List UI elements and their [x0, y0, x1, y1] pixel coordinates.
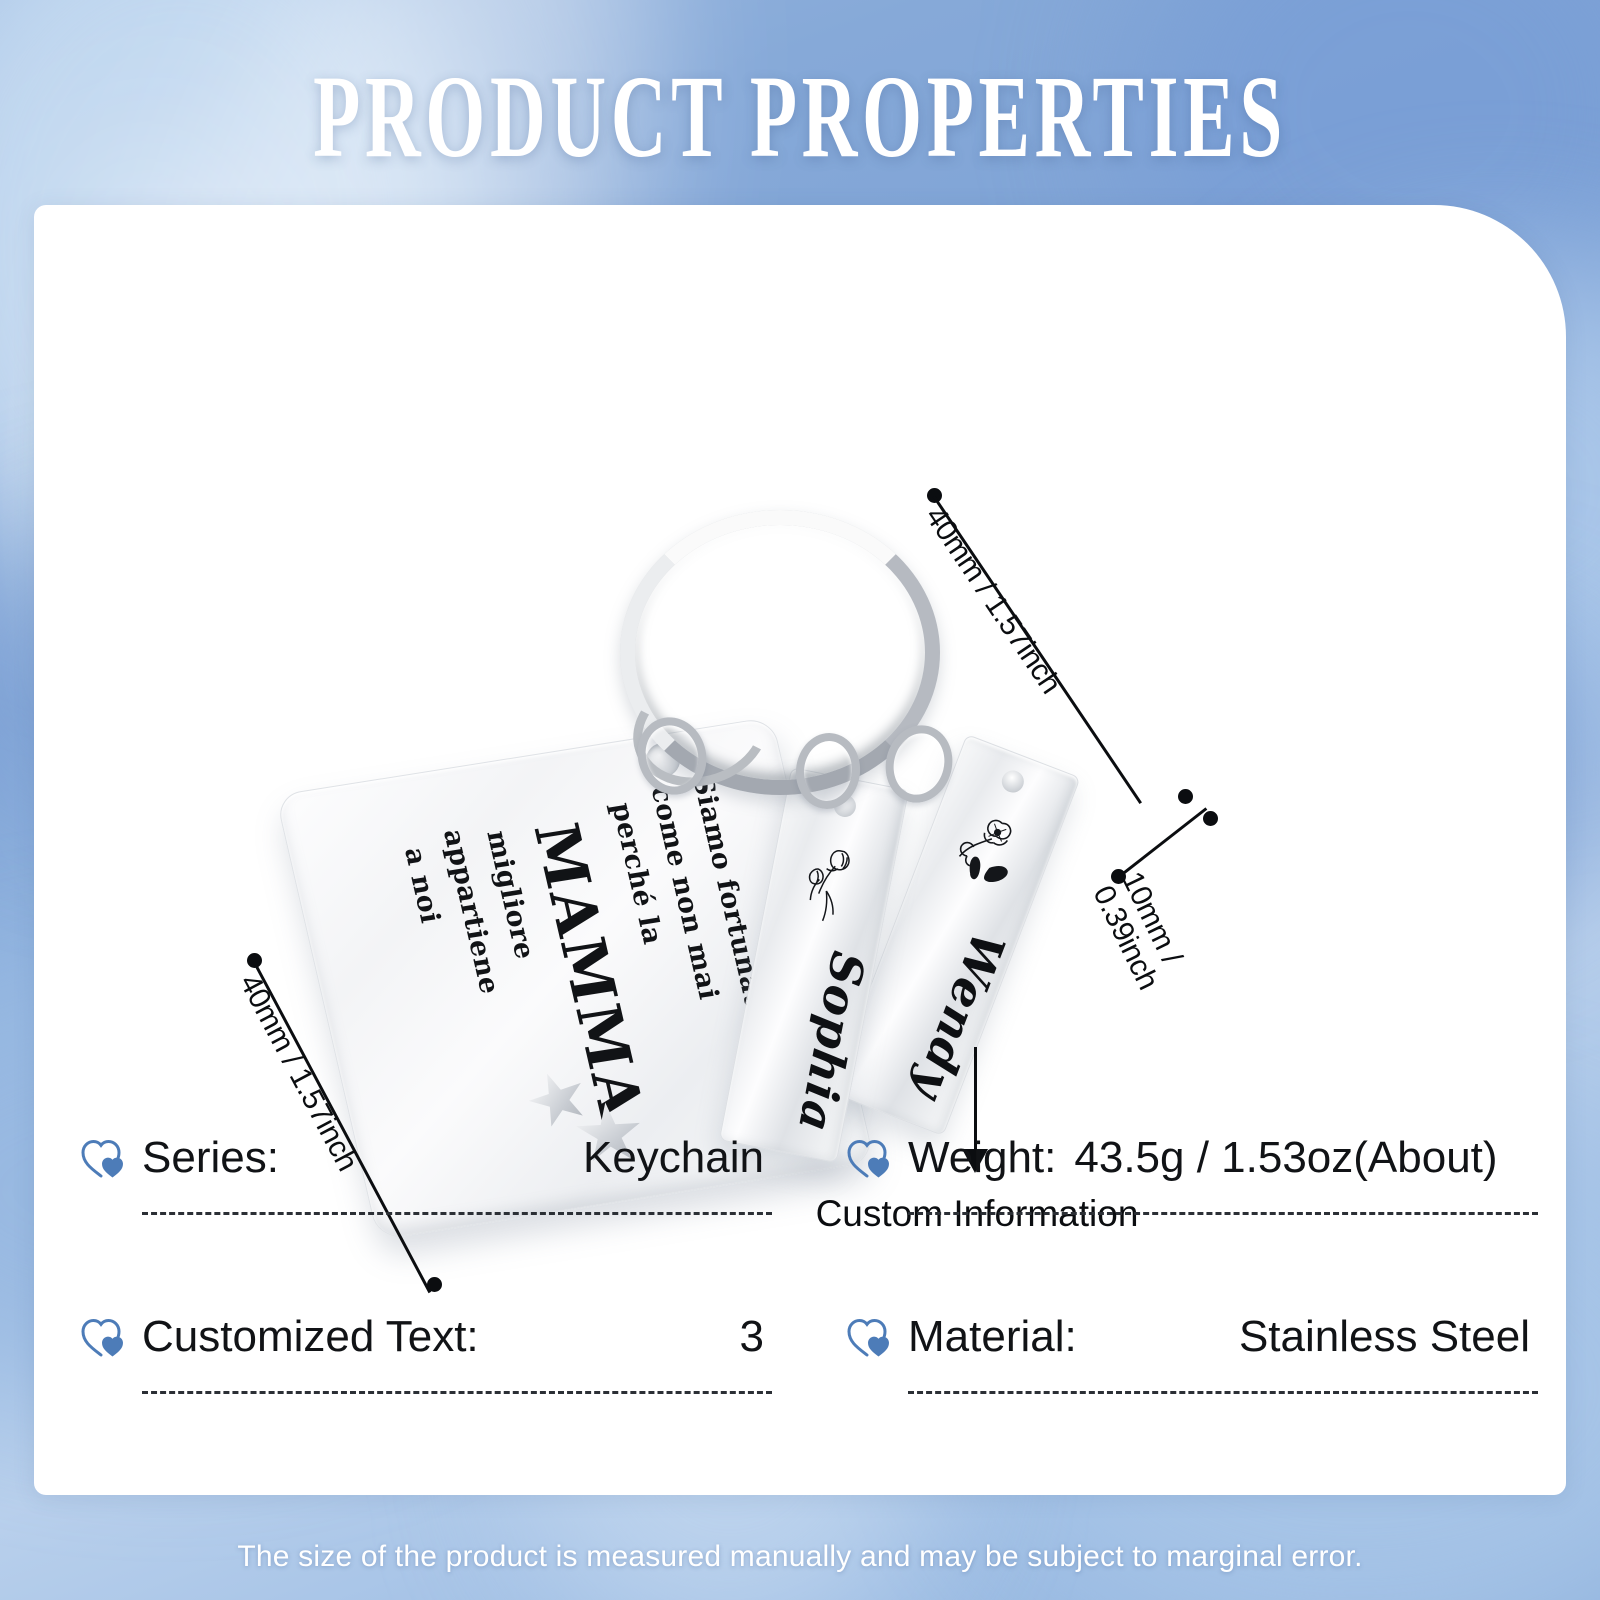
- double-heart-icon: [80, 1315, 126, 1359]
- spec-divider: [142, 1391, 772, 1394]
- spec-value: Stainless Steel: [1239, 1312, 1538, 1362]
- spec-divider: [908, 1212, 1538, 1215]
- footer-note: The size of the product is measured manu…: [0, 1540, 1600, 1574]
- double-heart-icon: [80, 1136, 126, 1180]
- primrose-flower-icon: [930, 798, 1036, 925]
- spec-value: 43.5g / 1.53oz(About): [1074, 1133, 1505, 1183]
- dimension-line: [1117, 807, 1207, 878]
- bar-tag-hole: [999, 767, 1027, 795]
- dimension-label-bar-width: 10mm / 0.39inch: [1086, 867, 1236, 1084]
- spec-row: Customized Text: 3 Material: Stainless S…: [34, 1289, 1566, 1394]
- spec-label: Customized Text:: [142, 1312, 479, 1362]
- spec-row: Series: Keychain Weight: 43.5g / 1.53oz(…: [34, 1110, 1566, 1215]
- spec-divider: [142, 1212, 772, 1215]
- spec-row-spacer: [34, 1215, 1566, 1289]
- dimension-endpoint: [1178, 789, 1193, 804]
- specification-table: Series: Keychain Weight: 43.5g / 1.53oz(…: [34, 1110, 1566, 1394]
- product-image: Siamo fortunati come non mai perché la M…: [34, 205, 1566, 1105]
- spec-item-customized-text: Customized Text: 3: [34, 1289, 800, 1394]
- spec-label: Material:: [908, 1312, 1077, 1362]
- spec-item-series: Series: Keychain: [34, 1110, 800, 1215]
- dimension-label-bar-length: 40mm / 1.57inch: [918, 501, 1068, 700]
- spec-value: Keychain: [583, 1133, 772, 1183]
- double-heart-icon: [846, 1315, 892, 1359]
- snowdrop-flower-icon: [783, 830, 875, 952]
- spec-value: 3: [740, 1312, 772, 1362]
- content-card: Siamo fortunati come non mai perché la M…: [34, 205, 1566, 1495]
- engraving-line: a noi: [398, 845, 446, 925]
- dimension-endpoint: [1203, 811, 1218, 826]
- spec-item-material: Material: Stainless Steel: [800, 1289, 1566, 1394]
- double-heart-icon: [846, 1136, 892, 1180]
- page-title: PRODUCT PROPERTIES: [56, 58, 1544, 176]
- spec-label: Weight:: [908, 1133, 1056, 1183]
- spec-item-weight: Weight: 43.5g / 1.53oz(About): [800, 1110, 1566, 1215]
- spec-divider: [908, 1391, 1538, 1394]
- spec-label: Series:: [142, 1133, 279, 1183]
